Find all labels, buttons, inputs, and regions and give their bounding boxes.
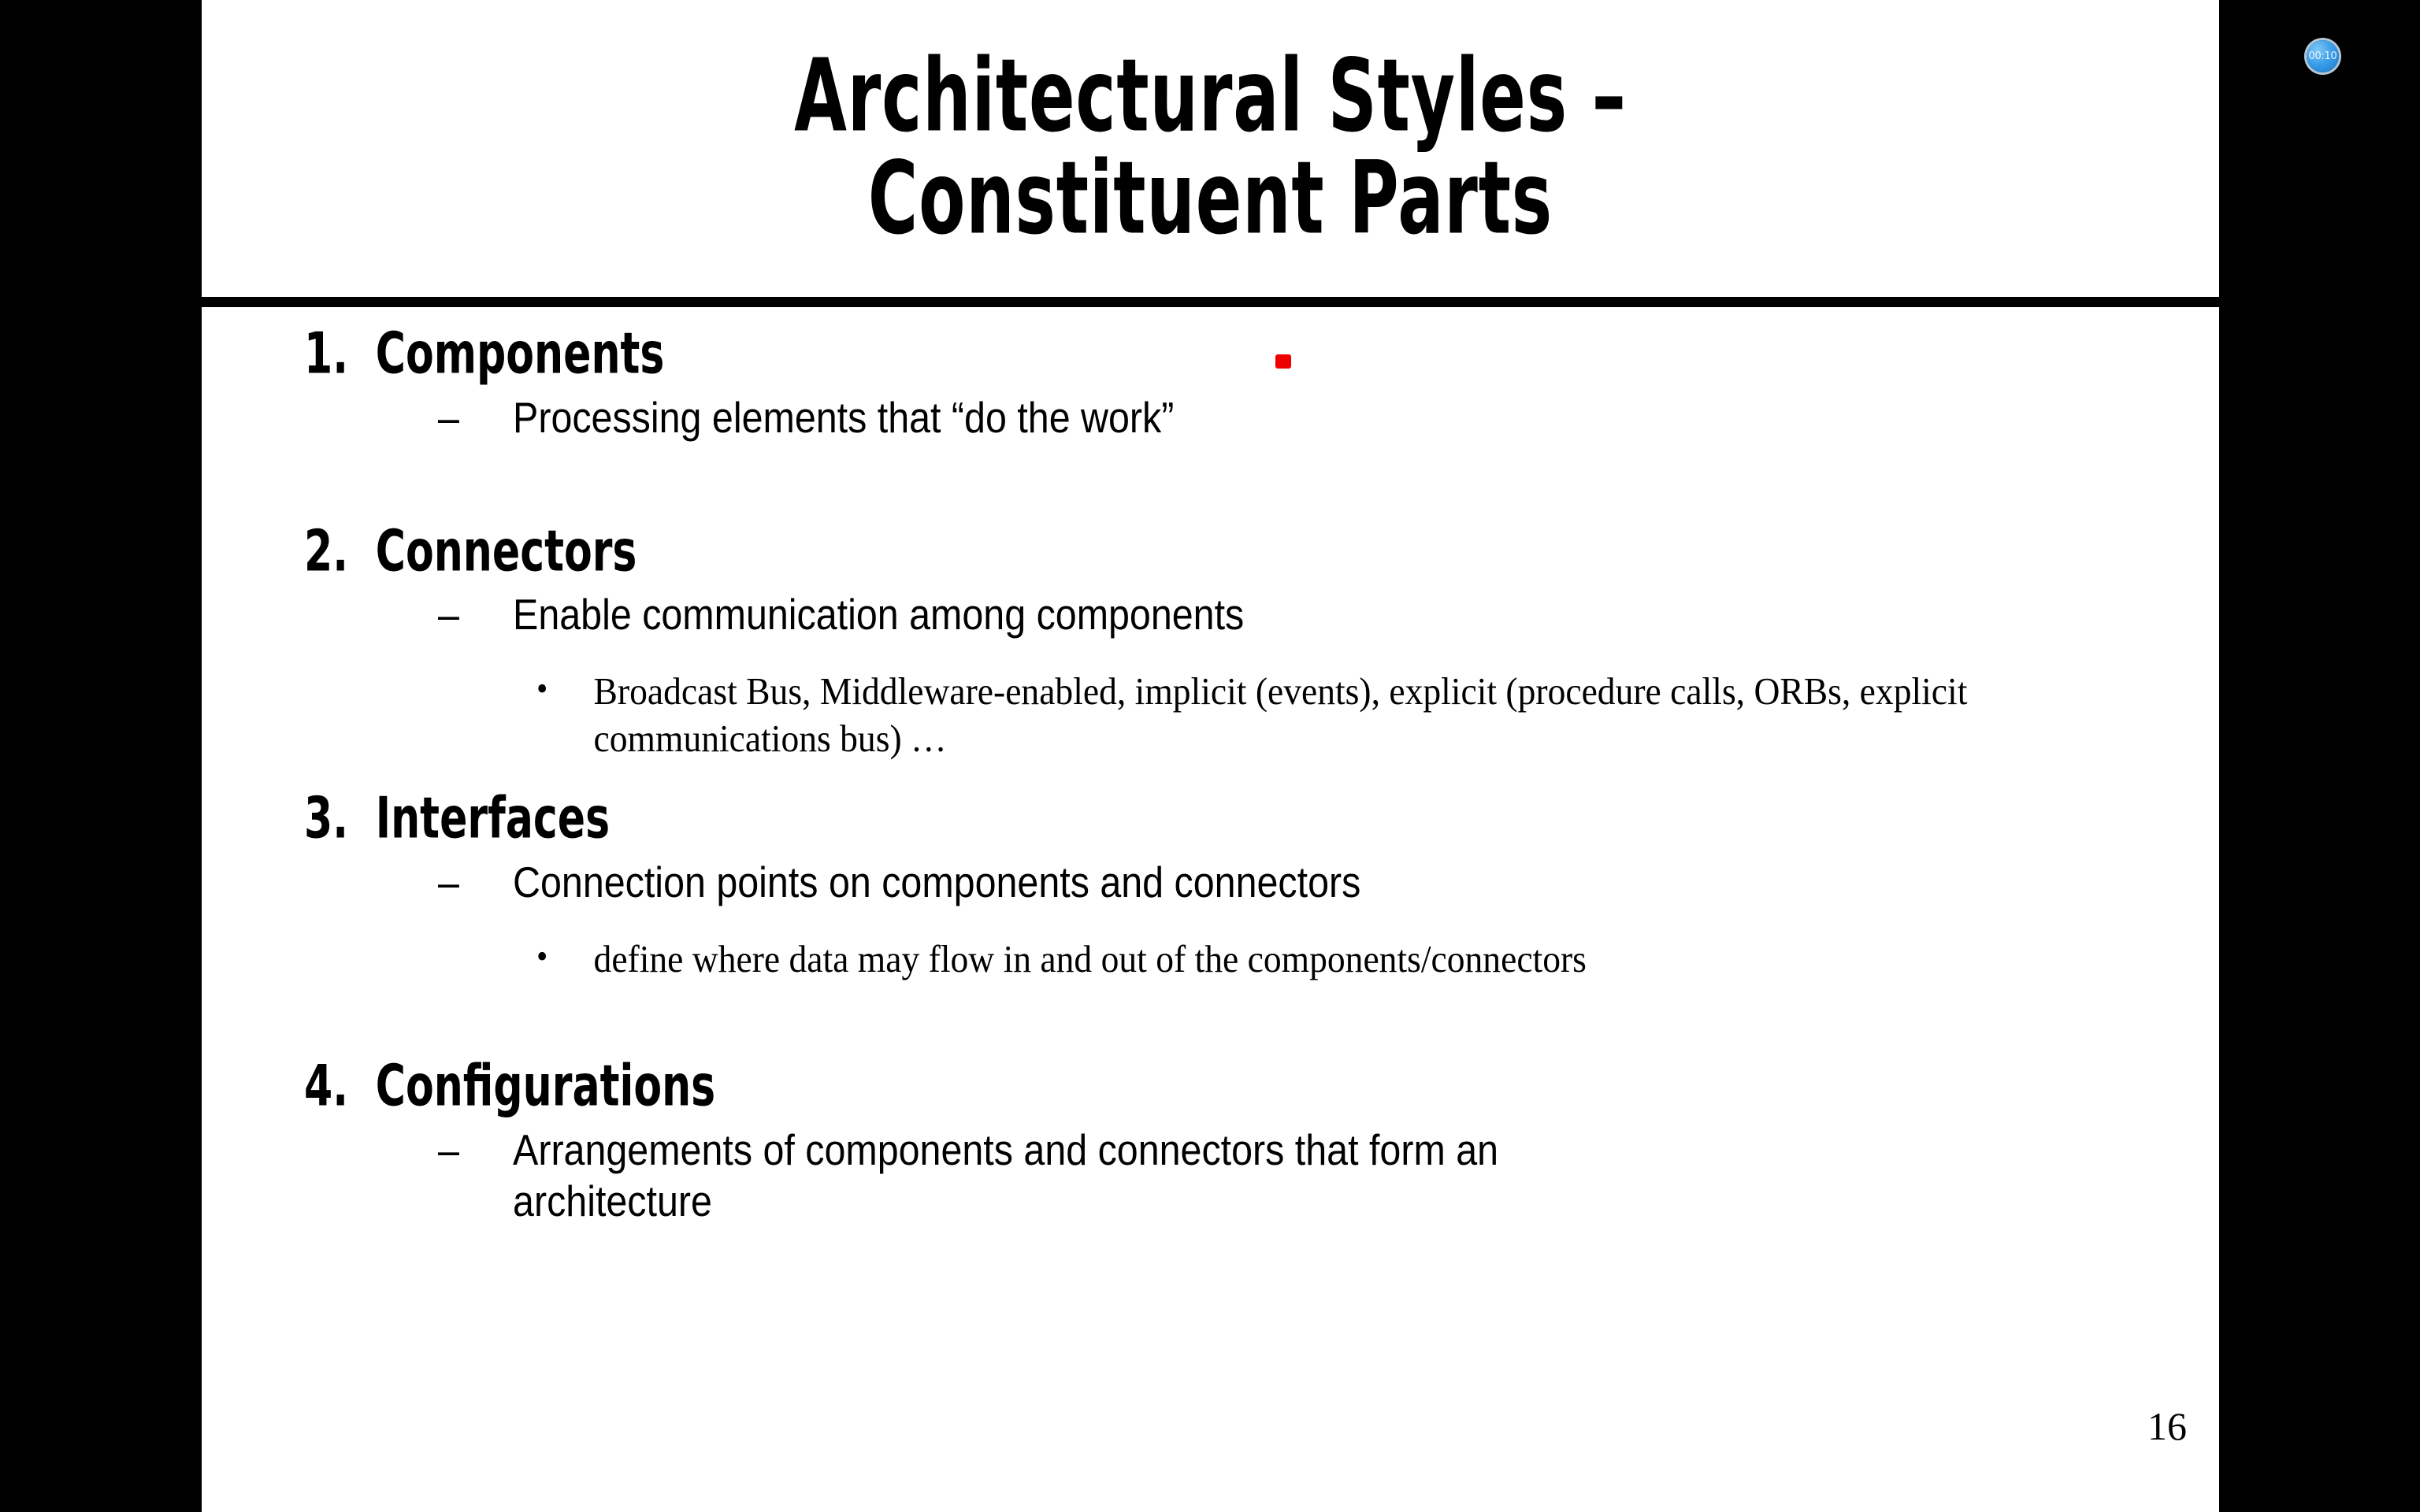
dash-bullet-4: – <box>438 1125 513 1176</box>
outline-subsub-broadcast-bus: • Broadcast Bus, Middleware-enabled, imp… <box>536 668 2093 762</box>
timer-label: 00:10 <box>2309 51 2337 61</box>
dash-bullet-1: – <box>438 392 513 443</box>
outline-item-connectors: 2. Connectors <box>304 517 637 584</box>
list-heading-2: Connectors <box>376 517 637 584</box>
list-heading-3: Interfaces <box>376 784 610 851</box>
dash-bullet-3: – <box>438 857 513 908</box>
round-bullet-2: • <box>536 668 594 710</box>
recording-timer-badge[interactable]: 00:10 <box>2307 40 2339 72</box>
list-heading-1: Components <box>376 320 665 387</box>
list-number-4: 4. <box>304 1052 376 1119</box>
subsub-text-3: define where data may flow in and out of… <box>594 936 1587 983</box>
slide-page-number: 16 <box>2147 1403 2187 1449</box>
red-marker-dot <box>1275 354 1291 369</box>
sub-text-3: Connection points on components and conn… <box>513 857 1360 908</box>
list-number-3: 3. <box>304 784 376 851</box>
sub-text-4: Arrangements of components and connector… <box>513 1125 1686 1227</box>
slide-title-block: Architectural Styles – Constituent Parts <box>202 0 2219 297</box>
subsub-text-2: Broadcast Bus, Middleware-enabled, impli… <box>594 668 2094 762</box>
presentation-slide: Architectural Styles – Constituent Parts… <box>202 0 2219 1512</box>
outline-subsub-define-dataflow: • define where data may flow in and out … <box>536 936 2093 983</box>
round-bullet-3: • <box>536 936 594 978</box>
outline-item-components: 1. Components <box>304 320 664 387</box>
slide-body: 1. Components – Processing elements that… <box>202 307 2219 1512</box>
screen-stage: Architectural Styles – Constituent Parts… <box>0 0 2420 1512</box>
sub-text-1: Processing elements that “do the work” <box>513 392 1174 443</box>
title-divider-rule <box>202 297 2219 307</box>
list-number-1: 1. <box>304 320 376 387</box>
outline-item-configurations: 4. Configurations <box>304 1052 715 1119</box>
outline-item-interfaces: 3. Interfaces <box>304 784 610 851</box>
outline-sub-arrangements: – Arrangements of components and connect… <box>438 1125 1686 1227</box>
dash-bullet-2: – <box>438 589 513 640</box>
list-number-2: 2. <box>304 517 376 584</box>
list-heading-4: Configurations <box>376 1052 715 1119</box>
outline-sub-enable-communication: – Enable communication among components <box>438 589 1928 640</box>
outline-sub-connection-points: – Connection points on components and co… <box>438 857 1928 908</box>
sub-text-2: Enable communication among components <box>513 589 1244 640</box>
outline-sub-processing-elements: – Processing elements that “do the work” <box>438 392 1928 443</box>
page-title: Architectural Styles – Constituent Parts <box>794 46 1627 251</box>
